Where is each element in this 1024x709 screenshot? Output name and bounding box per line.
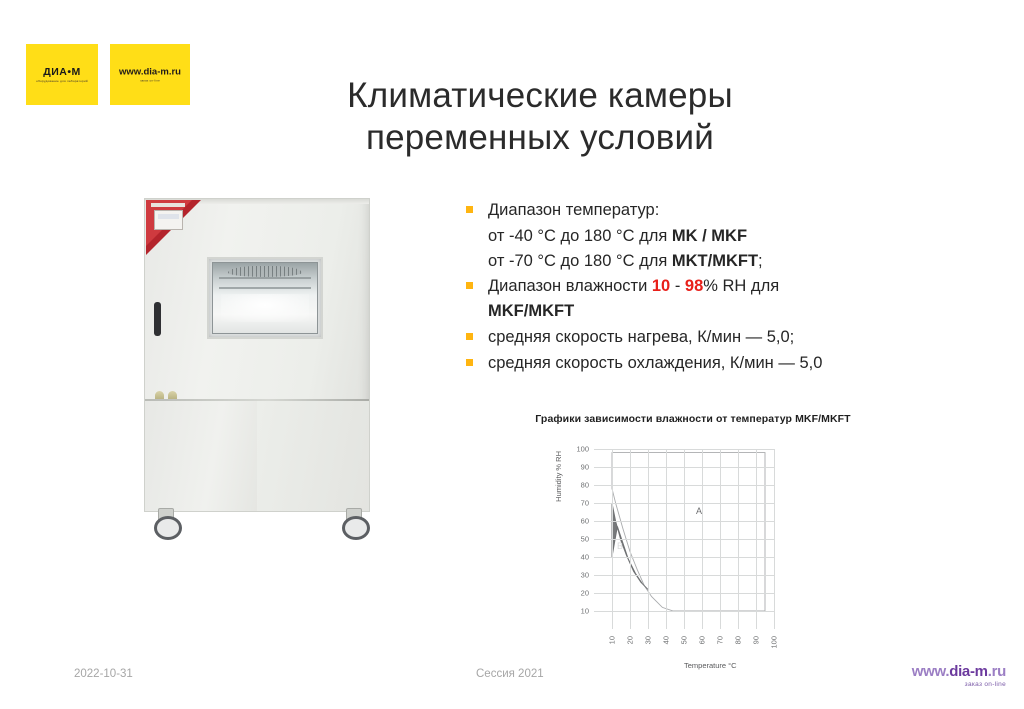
bullet-square-icon: [466, 206, 473, 213]
chart-gridline-horizontal: [594, 503, 774, 504]
chart-y-tick-label: 10: [581, 607, 589, 616]
chart-gridline-vertical: [774, 449, 775, 629]
caster-wheel-right: [342, 508, 364, 534]
logo-website-inner: www.dia-m.ru заказ on-line: [110, 67, 190, 83]
slide-root: ДИА•М оборудование для лабораторий www.d…: [0, 0, 1024, 709]
caster-wheel-left-tire: [154, 516, 182, 540]
chamber-body: [144, 198, 370, 512]
footer-logo-tagline: заказ on-line: [898, 681, 1006, 688]
chart-gridline-horizontal: [594, 593, 774, 594]
chart-gridline-horizontal: [594, 467, 774, 468]
chart-y-tick-label: 50: [581, 535, 589, 544]
list-item-cooling-rate: средняя скорость охлаждения, К/мин — 5,0: [466, 351, 976, 376]
bullet-square-icon: [466, 359, 473, 366]
chart-plot-area: A B 102030405060708090100102030405060708…: [594, 449, 774, 629]
chart-x-tick-label: 10: [608, 636, 617, 644]
caster-wheel-left: [154, 508, 176, 534]
spec-humidity-models: MKF/MKFT: [488, 302, 574, 320]
list-item-temperature-range: Диапазон температур:: [466, 198, 976, 223]
chamber-shelf-2: [219, 287, 311, 289]
chamber-interior-mesh: [228, 266, 303, 277]
footer-logo-name: dia-m: [949, 663, 988, 680]
product-photo: [126, 190, 386, 545]
chart-x-tick-label: 40: [662, 636, 671, 644]
footer-date: 2022-10-31: [74, 668, 133, 680]
chart-y-tick-label: 30: [581, 571, 589, 580]
spec-humidity-post: % RH для: [703, 277, 779, 295]
chart-gridline-horizontal: [594, 449, 774, 450]
chart-x-tick-label: 80: [734, 636, 743, 644]
chamber-lower-door-left: [145, 401, 258, 511]
chart-gridline-horizontal: [594, 575, 774, 576]
footer-session: Сессия 2021: [476, 668, 544, 680]
bullet-square-icon: [466, 333, 473, 340]
chart-x-axis-title: Temperature °C: [684, 661, 737, 670]
chart-region-b-label: B: [617, 541, 623, 551]
chart-y-tick-label: 90: [581, 463, 589, 472]
chamber-frost: [221, 294, 308, 322]
logo-diam-tagline: оборудование для лабораторий: [26, 79, 98, 82]
chart-gridline-horizontal: [594, 557, 774, 558]
chart-x-tick-label: 60: [698, 636, 707, 644]
control-panel-display[interactable]: [154, 210, 183, 230]
chamber-shelf-1: [219, 277, 311, 279]
chart-y-axis-title: Humidity % RH: [554, 451, 563, 502]
door-handle[interactable]: [154, 302, 161, 336]
footer-logo[interactable]: www.dia-m.ru заказ on-line: [898, 664, 1006, 688]
chart-y-tick-label: 20: [581, 589, 589, 598]
chart-gridline-horizontal: [594, 485, 774, 486]
chart-x-tick-label: 70: [716, 636, 725, 644]
chamber-window: [207, 257, 323, 339]
chart-y-tick-label: 80: [581, 481, 589, 490]
chart-x-tick-label: 100: [770, 636, 779, 649]
logo-website-tagline: заказ on-line: [110, 79, 190, 82]
spec-temperature-label: Диапазон температур:: [488, 198, 659, 223]
logo-website-name: www.dia-m.ru: [110, 67, 190, 77]
page-title-line1: Климатические камеры: [347, 76, 733, 115]
chart-y-tick-label: 70: [581, 499, 589, 508]
chart-x-tick-label: 30: [644, 636, 653, 644]
spec-humidity-dash: -: [670, 277, 685, 295]
control-panel-strip: [151, 203, 185, 207]
spec-temperature-sub1-models: MK / MKF: [672, 227, 747, 245]
chart-gridline-horizontal: [594, 539, 774, 540]
logo-website[interactable]: www.dia-m.ru заказ on-line: [110, 44, 190, 105]
spec-heating-rate: средняя скорость нагрева, К/мин — 5,0;: [488, 325, 794, 350]
spec-temperature-sub2-punct: ;: [758, 252, 763, 270]
spec-humidity-pre: Диапазон влажности: [488, 277, 652, 295]
logo-diam-name: ДИА•М: [26, 66, 98, 77]
spec-humidity-label: Диапазон влажности 10 - 98% RH для MKF/M…: [488, 274, 779, 324]
footer-logo-url: www.dia-m.ru: [898, 664, 1006, 679]
list-item-heating-rate: средняя скорость нагрева, К/мин — 5,0;: [466, 325, 976, 350]
footer-logo-www: www.: [912, 663, 949, 680]
spec-humidity-max: 98: [685, 277, 703, 295]
chart-x-tick-label: 90: [752, 636, 761, 644]
list-item-humidity-range: Диапазон влажности 10 - 98% RH для MKF/M…: [466, 274, 976, 324]
spec-temperature-sub1-text: от -40 °C до 180 °C для: [488, 227, 672, 245]
chart-y-tick-label: 40: [581, 553, 589, 562]
caster-wheel-right-tire: [342, 516, 370, 540]
page-title-line2: переменных условий: [240, 117, 840, 158]
spec-humidity-min: 10: [652, 277, 670, 295]
spec-temperature-sub2-text: от -70 °C до 180 °C для: [488, 252, 672, 270]
chart-x-tick-label: 50: [680, 636, 689, 644]
chart-x-tick-label: 20: [626, 636, 635, 644]
humidity-temperature-chart: Humidity % RH Temperature °C A B 1020304…: [556, 443, 824, 681]
spec-temperature-sub2: от -70 °C до 180 °C для MKT/MKFT;: [488, 249, 976, 274]
footer-logo-tld: .ru: [988, 663, 1006, 680]
logo-diam-inner: ДИА•М оборудование для лабораторий: [26, 66, 98, 82]
specs-list: Диапазон температур: от -40 °C до 180 °C…: [466, 198, 976, 378]
page-title: Климатические камеры переменных условий: [240, 75, 840, 158]
chamber-lower-door-right: [257, 401, 369, 511]
chart-gridline-horizontal: [594, 521, 774, 522]
chart-caption: Графики зависимости влажности от темпера…: [498, 413, 888, 425]
chart-gridline-horizontal: [594, 611, 774, 612]
logo-diam[interactable]: ДИА•М оборудование для лабораторий: [26, 44, 98, 105]
spec-temperature-sub1: от -40 °C до 180 °C для MK / MKF: [488, 224, 976, 249]
bullet-square-icon: [466, 282, 473, 289]
spec-cooling-rate: средняя скорость охлаждения, К/мин — 5,0: [488, 351, 822, 376]
chart-region-a: [612, 453, 765, 611]
chart-y-tick-label: 60: [581, 517, 589, 526]
chart-y-tick-label: 100: [576, 445, 589, 454]
spec-temperature-sub2-models: MKT/MKFT: [672, 252, 758, 270]
chamber-window-glass: [212, 262, 318, 334]
